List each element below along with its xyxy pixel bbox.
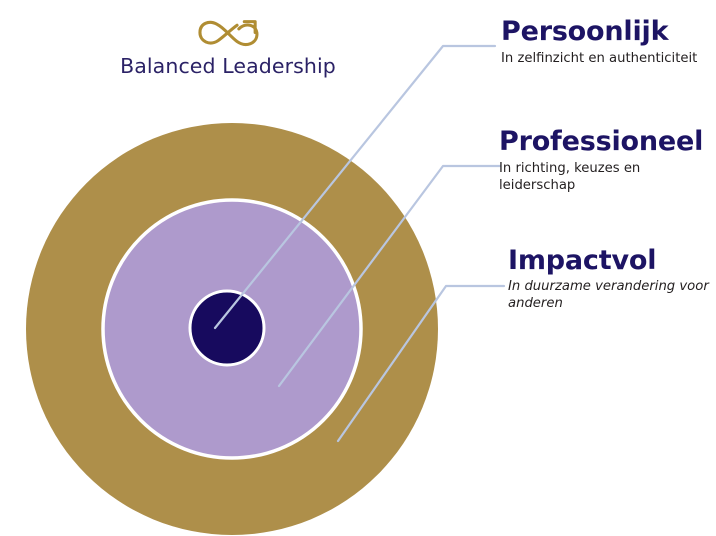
- callout-subtitle-impactvol: In duurzame verandering voor anderen: [508, 279, 716, 313]
- callout-subtitle-professioneel: In richting, keuzes en leiderschap: [499, 161, 714, 195]
- infinity-arrow-icon: [108, 18, 348, 56]
- callout-title-professioneel: Professioneel: [499, 128, 714, 156]
- callout-subtitle-persoonlijk: In zelfinzicht en authenticiteit: [501, 51, 716, 68]
- callout-persoonlijk[interactable]: Persoonlijk In zelfinzicht en authentici…: [501, 18, 716, 68]
- brand-name: Balanced Leadership: [108, 54, 348, 78]
- diagram-canvas: Balanced Leadership Persoonlijk In zelfi…: [0, 0, 716, 536]
- callout-professioneel[interactable]: Professioneel In richting, keuzes en lei…: [499, 128, 714, 195]
- callout-impactvol[interactable]: Impactvol In duurzame verandering voor a…: [508, 247, 716, 313]
- callout-title-persoonlijk: Persoonlijk: [501, 18, 716, 46]
- callout-title-impactvol: Impactvol: [508, 247, 716, 275]
- inner-circle-persoonlijk[interactable]: [190, 291, 264, 365]
- brand-logo[interactable]: Balanced Leadership: [108, 18, 348, 84]
